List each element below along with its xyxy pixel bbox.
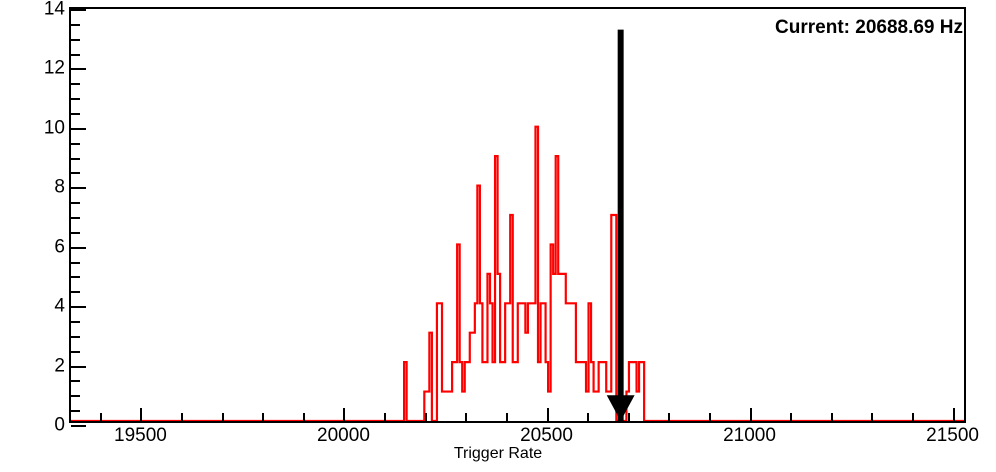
plot-frame: 02468101214 1950020000205002100021500 <box>69 7 966 423</box>
x-tick-major <box>140 408 142 421</box>
x-tick-minor <box>628 413 630 421</box>
y-tick-major <box>71 128 86 130</box>
histogram-area <box>71 9 964 421</box>
y-tick-minor <box>71 158 80 160</box>
y-tick-label: 2 <box>54 356 65 375</box>
y-tick-minor <box>71 336 80 338</box>
y-tick-minor <box>71 24 80 26</box>
histogram-outline <box>71 127 964 421</box>
x-tick-minor <box>181 413 183 421</box>
y-tick-major <box>71 9 86 11</box>
y-tick-label: 10 <box>44 118 65 137</box>
x-tick-minor <box>668 413 670 421</box>
y-tick-minor <box>71 380 80 382</box>
x-tick-minor <box>831 413 833 421</box>
x-tick-minor <box>465 413 467 421</box>
y-tick-minor <box>71 217 80 219</box>
y-tick-minor <box>71 321 80 323</box>
y-tick-minor <box>71 351 80 353</box>
x-tick-label: 19500 <box>114 426 167 445</box>
y-tick-minor <box>71 143 80 145</box>
y-tick-minor <box>71 172 80 174</box>
y-tick-minor <box>71 202 80 204</box>
y-tick-minor <box>71 410 80 412</box>
x-tick-label: 20000 <box>317 426 370 445</box>
x-tick-minor <box>384 413 386 421</box>
x-tick-minor <box>222 413 224 421</box>
y-tick-label: 6 <box>54 237 65 256</box>
y-tick-minor <box>71 113 80 115</box>
plot-canvas: 02468101214 1950020000205002100021500 Tr… <box>0 0 996 472</box>
current-value-readout: Current: 20688.69 Hz <box>775 17 963 39</box>
y-tick-minor <box>71 98 80 100</box>
y-tick-minor <box>71 291 80 293</box>
y-tick-minor <box>71 395 80 397</box>
y-tick-major <box>71 68 86 70</box>
x-tick-minor <box>709 413 711 421</box>
x-tick-major <box>343 408 345 421</box>
y-tick-minor <box>71 276 80 278</box>
x-tick-minor <box>587 413 589 421</box>
x-tick-minor <box>790 413 792 421</box>
x-tick-minor <box>425 413 427 421</box>
y-tick-minor <box>71 39 80 41</box>
histogram-svg <box>71 9 964 421</box>
x-tick-label: 21000 <box>723 426 776 445</box>
y-tick-label: 0 <box>54 416 65 435</box>
x-axis-title: Trigger Rate <box>0 445 996 463</box>
x-tick-minor <box>871 413 873 421</box>
y-tick-label: 12 <box>44 59 65 78</box>
y-tick-major <box>71 247 86 249</box>
y-tick-minor <box>71 54 80 56</box>
y-tick-minor <box>71 262 80 264</box>
y-tick-minor <box>71 83 80 85</box>
x-tick-label: 20500 <box>520 426 573 445</box>
x-tick-minor <box>262 413 264 421</box>
y-tick-major <box>71 425 86 427</box>
y-tick-label: 4 <box>54 297 65 316</box>
x-tick-minor <box>506 413 508 421</box>
x-tick-major <box>953 408 955 421</box>
x-tick-minor <box>303 413 305 421</box>
x-tick-minor <box>100 413 102 421</box>
x-tick-major <box>547 408 549 421</box>
x-tick-major <box>750 408 752 421</box>
y-tick-major <box>71 306 86 308</box>
y-tick-label: 14 <box>44 0 65 19</box>
x-tick-minor <box>912 413 914 421</box>
y-tick-major <box>71 366 86 368</box>
y-tick-label: 8 <box>54 178 65 197</box>
x-tick-label: 21500 <box>926 426 979 445</box>
y-tick-major <box>71 187 86 189</box>
y-tick-minor <box>71 232 80 234</box>
